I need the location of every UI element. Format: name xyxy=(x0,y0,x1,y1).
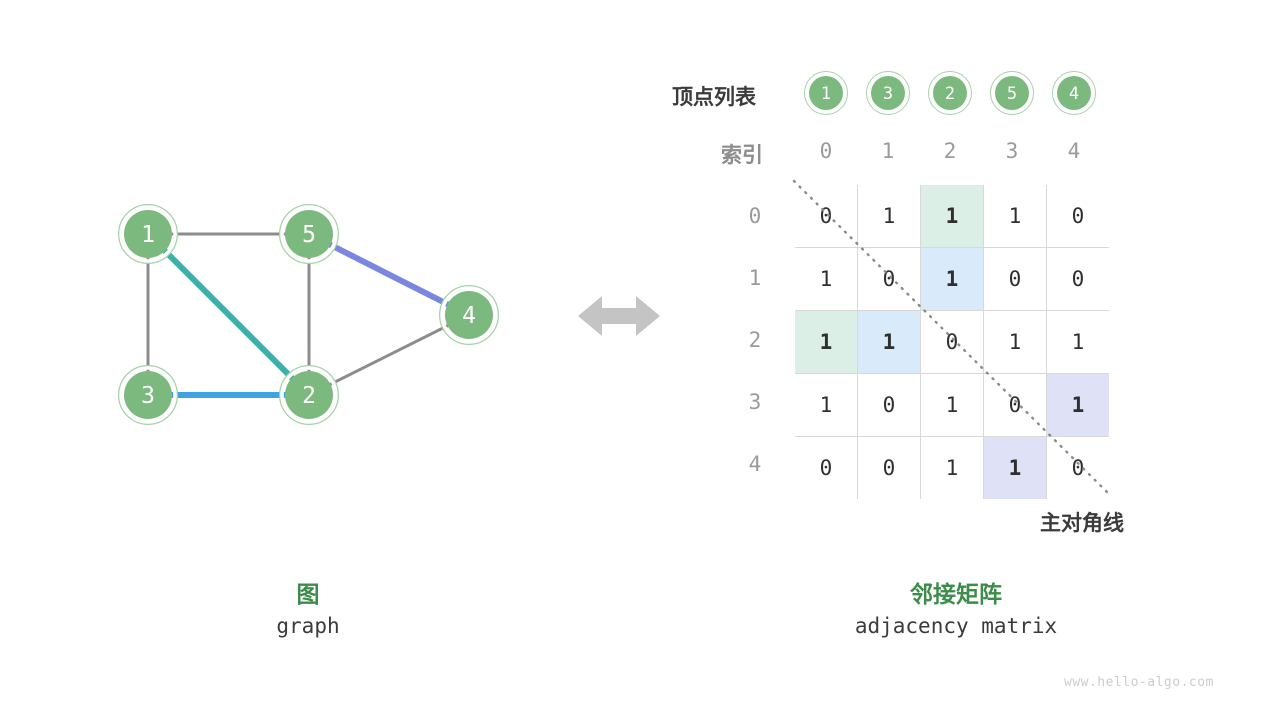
matrix-cell-3-0[interactable]: 1 xyxy=(795,374,858,437)
matrix-row-index-4: 4 xyxy=(735,452,775,476)
matrix-row-index-1: 1 xyxy=(735,266,775,290)
matrix-row: 10100 xyxy=(795,248,1109,311)
matrix-cell-3-4[interactable]: 1 xyxy=(1047,374,1110,437)
matrix-row: 01110 xyxy=(795,185,1109,248)
graph-node-label: 4 xyxy=(462,303,476,329)
matrix-cell-1-3[interactable]: 0 xyxy=(984,248,1047,311)
matrix-row-index-0: 0 xyxy=(735,204,775,228)
main-diagonal-label: 主对角线 xyxy=(1040,507,1124,537)
matrix-cell-4-0[interactable]: 0 xyxy=(795,437,858,500)
matrix-cell-3-2[interactable]: 1 xyxy=(921,374,984,437)
graph-caption-en: graph xyxy=(208,614,408,638)
matrix-cell-4-4[interactable]: 0 xyxy=(1047,437,1110,500)
adjacency-matrix-table: 0111010100110111010100110 xyxy=(795,185,1109,499)
graph-node-label: 5 xyxy=(302,222,316,248)
matrix-row-index-3: 3 xyxy=(735,390,775,414)
vertex-chip-label: 4 xyxy=(1069,84,1079,104)
matrix-col-index-2: 2 xyxy=(919,139,981,163)
matrix-cell-1-2[interactable]: 1 xyxy=(921,248,984,311)
adjacency-matrix: 0111010100110111010100110 xyxy=(795,185,1105,495)
graph-node-label: 3 xyxy=(141,383,155,409)
vertex-chip-4[interactable]: 4 xyxy=(1053,72,1095,114)
graph-edge-1-2 xyxy=(148,234,309,395)
graph-node-label: 2 xyxy=(302,383,316,409)
matrix-row-index-2: 2 xyxy=(735,328,775,352)
graph-node-5[interactable]: 5 xyxy=(280,205,338,263)
watermark: www.hello-algo.com xyxy=(1064,675,1214,690)
diagram-canvas: 15324 13254 顶点列表 索引 主对角线 01234 01234 011… xyxy=(0,0,1280,720)
vertex-chip-label: 5 xyxy=(1007,84,1017,104)
matrix-cell-2-3[interactable]: 1 xyxy=(984,311,1047,374)
vertex-list-label: 顶点列表 xyxy=(672,81,756,111)
matrix-cell-4-3[interactable]: 1 xyxy=(984,437,1047,500)
matrix-row: 11011 xyxy=(795,311,1109,374)
graph-node-4[interactable]: 4 xyxy=(440,286,498,344)
matrix-cell-1-0[interactable]: 1 xyxy=(795,248,858,311)
matrix-col-index-3: 3 xyxy=(981,139,1043,163)
matrix-cell-0-3[interactable]: 1 xyxy=(984,185,1047,248)
matrix-cell-4-1[interactable]: 0 xyxy=(858,437,921,500)
matrix-col-index-0: 0 xyxy=(795,139,857,163)
matrix-cell-3-1[interactable]: 0 xyxy=(858,374,921,437)
graph-edges xyxy=(148,234,469,395)
matrix-row: 10101 xyxy=(795,374,1109,437)
matrix-cell-2-0[interactable]: 1 xyxy=(795,311,858,374)
vertex-chip-5[interactable]: 5 xyxy=(991,72,1033,114)
matrix-caption-cn: 邻接矩阵 xyxy=(806,575,1106,609)
matrix-col-index-1: 1 xyxy=(857,139,919,163)
matrix-cell-3-3[interactable]: 0 xyxy=(984,374,1047,437)
matrix-cell-0-1[interactable]: 1 xyxy=(858,185,921,248)
matrix-cell-1-1[interactable]: 0 xyxy=(858,248,921,311)
graph-node-2[interactable]: 2 xyxy=(280,366,338,424)
graph-caption-cn: 图 xyxy=(208,575,408,609)
matrix-cell-2-4[interactable]: 1 xyxy=(1047,311,1110,374)
graph-node-label: 1 xyxy=(141,222,155,248)
matrix-cell-2-2[interactable]: 0 xyxy=(921,311,984,374)
matrix-caption-en: adjacency matrix xyxy=(806,614,1106,638)
vertex-chip-label: 3 xyxy=(883,84,893,104)
vertex-chip-1[interactable]: 1 xyxy=(805,72,847,114)
matrix-cell-0-2[interactable]: 1 xyxy=(921,185,984,248)
vertex-chip-2[interactable]: 2 xyxy=(929,72,971,114)
matrix-cell-1-4[interactable]: 0 xyxy=(1047,248,1110,311)
matrix-row: 00110 xyxy=(795,437,1109,500)
matrix-cell-0-0[interactable]: 0 xyxy=(795,185,858,248)
matrix-col-index-4: 4 xyxy=(1043,139,1105,163)
matrix-cell-4-2[interactable]: 1 xyxy=(921,437,984,500)
vertex-chip-3[interactable]: 3 xyxy=(867,72,909,114)
bidirectional-arrow-icon xyxy=(578,296,660,336)
graph-node-1[interactable]: 1 xyxy=(119,205,177,263)
vertex-list-chips: 13254 xyxy=(805,72,1095,114)
vertex-chip-label: 2 xyxy=(945,84,955,104)
index-label: 索引 xyxy=(721,139,763,169)
vertex-chip-label: 1 xyxy=(821,84,831,104)
matrix-cell-0-4[interactable]: 0 xyxy=(1047,185,1110,248)
graph-node-3[interactable]: 3 xyxy=(119,366,177,424)
matrix-cell-2-1[interactable]: 1 xyxy=(858,311,921,374)
